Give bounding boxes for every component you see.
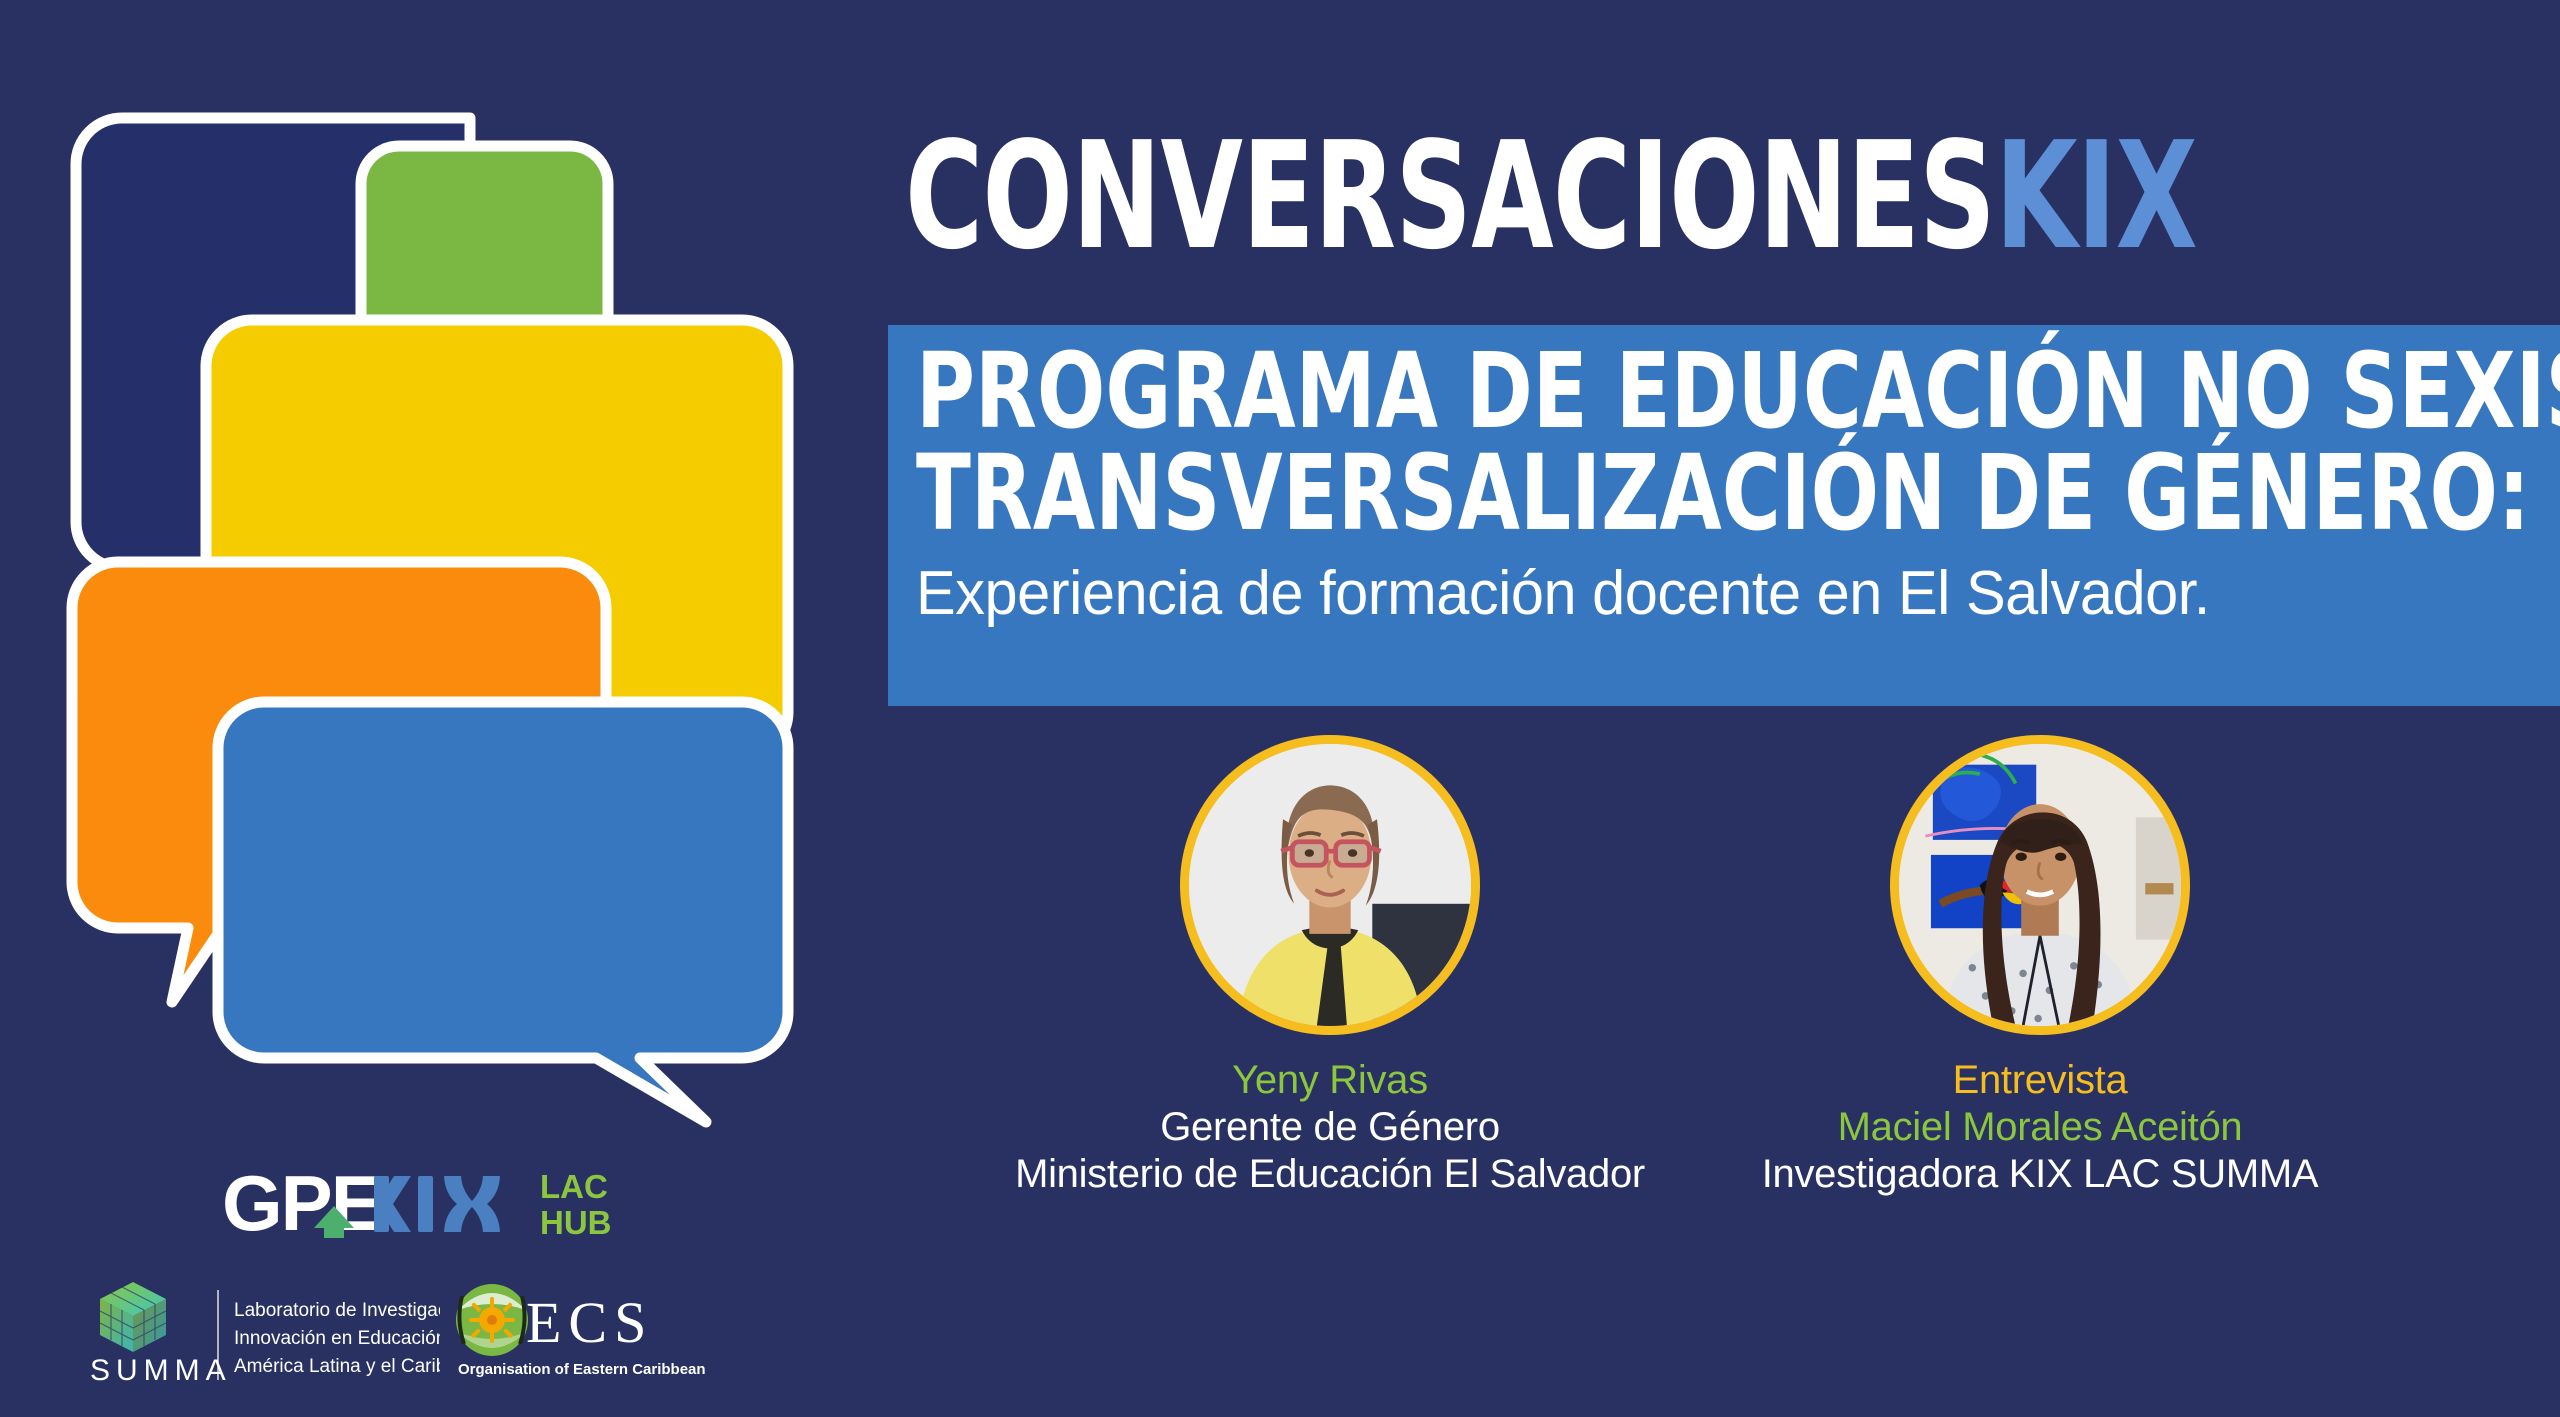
speaker-left-text: Yeny Rivas Gerente de Género Ministerio …: [980, 1057, 1680, 1199]
speaker-left-role-1: Gerente de Género: [980, 1104, 1680, 1151]
summa-tagline-3: América Latina y el Caribe: [234, 1356, 440, 1377]
speaker-left-role-2: Ministerio de Educación El Salvador: [980, 1151, 1680, 1198]
summa-tagline-1: Laboratorio de Investigación e: [234, 1300, 440, 1321]
oecs-tagline: Organisation of Eastern Caribbean States: [458, 1361, 710, 1378]
avatar: [1890, 735, 2190, 1035]
bubble-navy: [0, 0, 390, 118]
oecs-logo: ECS Organisation of Eastern Caribbean St…: [450, 1272, 710, 1390]
speaker-left-name: Yeny Rivas: [980, 1057, 1680, 1104]
poster-canvas: CONVERSACIONESKIX PROGRAMA DE EDUCACIÓN …: [0, 0, 2560, 1417]
speaker-right-name: Maciel Morales Aceitón: [1690, 1104, 2390, 1151]
avatar: [1180, 735, 1480, 1035]
oecs-emblem-icon: [456, 1284, 528, 1356]
lac-label: LAC: [540, 1168, 608, 1205]
portrait-maciel-morales-image: [1899, 744, 2181, 1026]
hub-label: HUB: [540, 1204, 612, 1241]
speech-bubbles-graphic: [0, 0, 900, 1130]
bubble-blue: [218, 702, 788, 1122]
banner-subtitle: Experiencia de formación docente en El S…: [916, 561, 2494, 626]
kix-wordmark: [374, 1176, 500, 1232]
speaker-right-role-1: Investigadora KIX LAC SUMMA: [1690, 1151, 2390, 1198]
summa-tagline-2: Innovación en Educación para: [234, 1328, 440, 1349]
speaker-right-text: Entrevista Maciel Morales Aceitón Invest…: [1690, 1057, 2390, 1199]
headline-primary: CONVERSACIONES: [905, 110, 1995, 282]
banner-title-line1: PROGRAMA DE EDUCACIÓN NO SEXISTA Y: [916, 341, 2330, 443]
gpe-wordmark: GPE: [222, 1159, 381, 1247]
title-banner: PROGRAMA DE EDUCACIÓN NO SEXISTA Y TRANS…: [888, 325, 2560, 706]
oecs-wordmark: ECS: [526, 1290, 653, 1355]
speaker-right-kicker: Entrevista: [1690, 1057, 2390, 1104]
speaker-card-left: Yeny Rivas Gerente de Género Ministerio …: [980, 735, 1680, 1199]
page-title: CONVERSACIONESKIX: [905, 122, 2197, 270]
speaker-card-right: Entrevista Maciel Morales Aceitón Invest…: [1690, 735, 2390, 1199]
banner-title-line2: TRANSVERSALIZACIÓN DE GÉNERO:: [916, 443, 2330, 545]
headline-accent: KIX: [1995, 110, 2197, 282]
gpe-kix-lac-hub-logo: GPE LAC HUB: [222, 1148, 642, 1258]
summa-logo: SUMMA Laboratorio de Investigación e Inn…: [90, 1272, 440, 1390]
summa-cube-icon: [100, 1282, 166, 1352]
portrait-yeny-rivas-image: [1189, 744, 1471, 1026]
summa-wordmark: SUMMA: [90, 1354, 232, 1387]
